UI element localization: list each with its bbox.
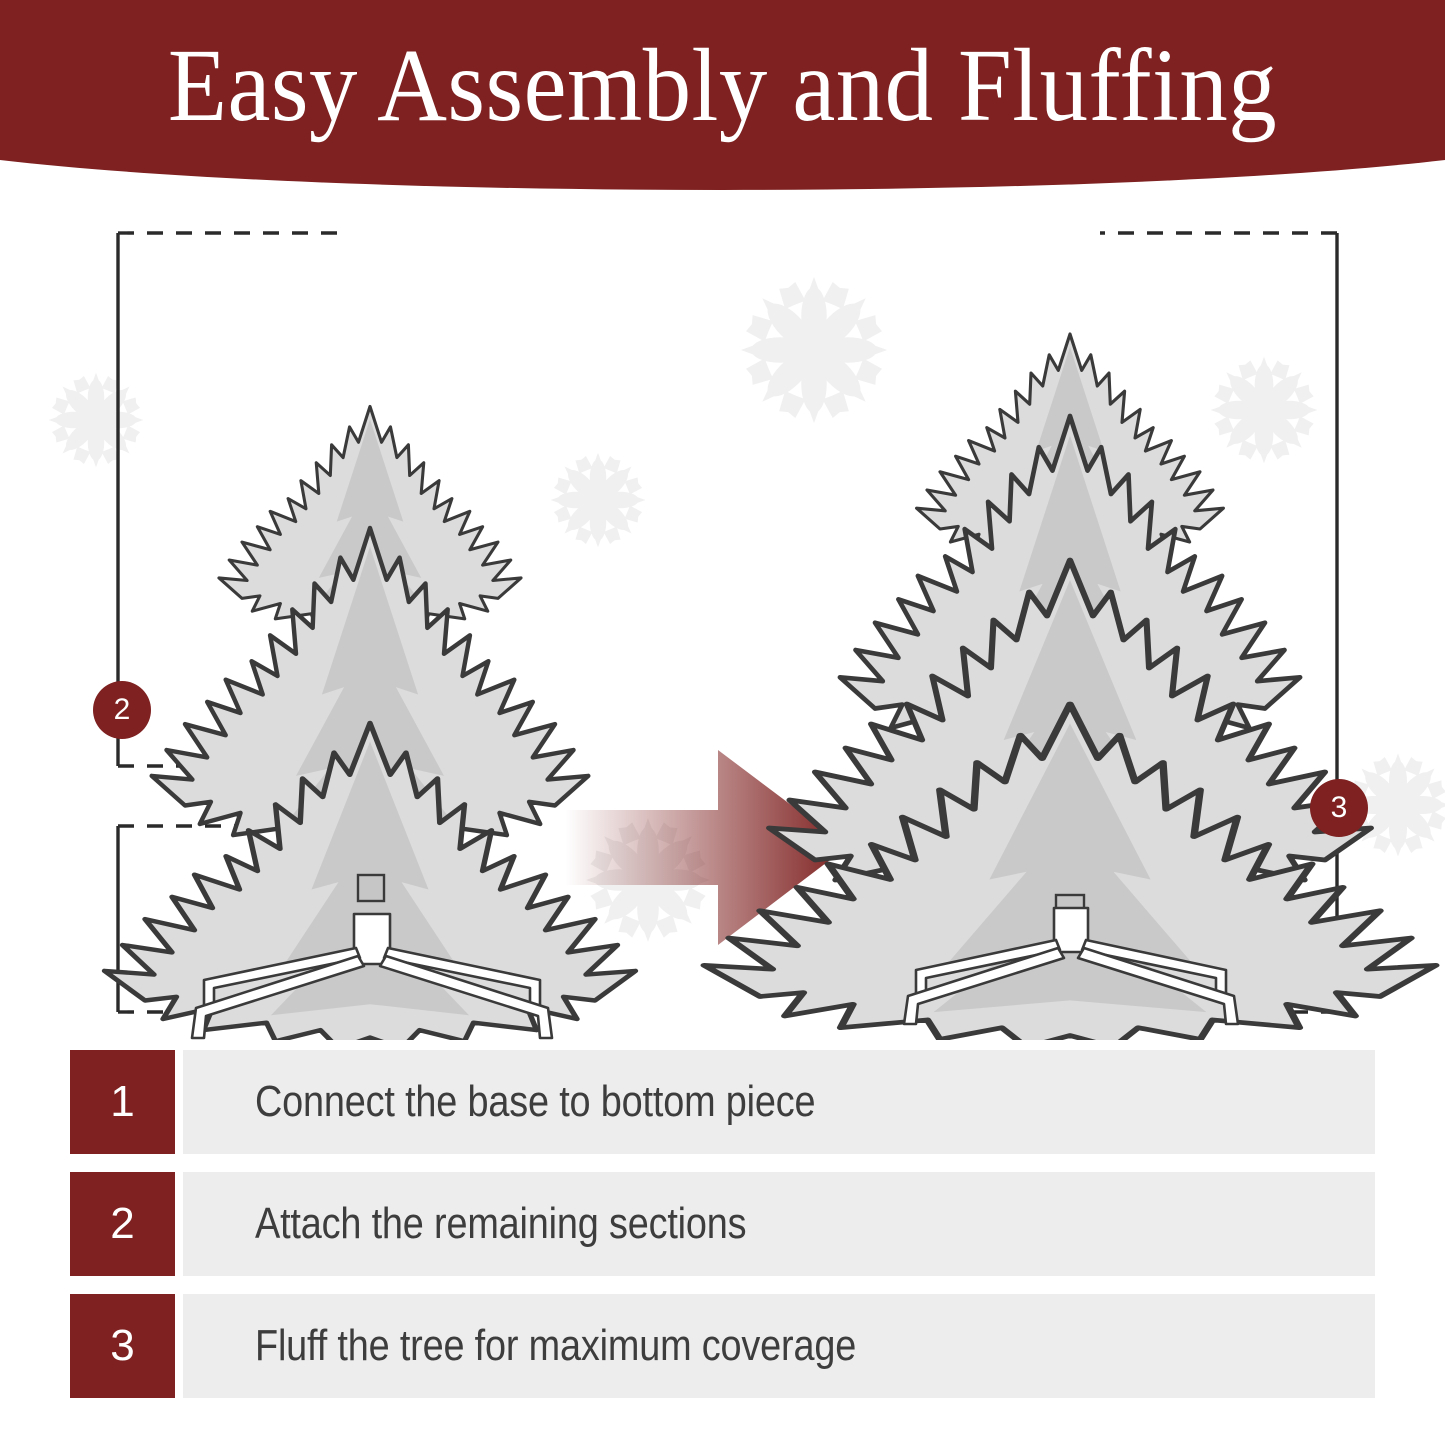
assembled-tree <box>704 334 1436 1040</box>
step-number-3: 3 <box>70 1294 175 1398</box>
step-text-container-3: Fluff the tree for maximum coverage <box>183 1294 1375 1398</box>
steps-list: 1 Connect the base to bottom piece 2 Att… <box>70 1050 1375 1416</box>
step-row-2: 2 Attach the remaining sections <box>70 1172 1375 1276</box>
section-connector-pole <box>358 875 384 901</box>
infographic-page: Easy Assembly and Fluffing <box>0 0 1445 1445</box>
illustration-svg <box>0 190 1445 1040</box>
step-label-1: Connect the base to bottom piece <box>255 1077 815 1127</box>
callout-badge-2[interactable]: 2 <box>93 681 151 739</box>
step-row-3: 3 Fluff the tree for maximum coverage <box>70 1294 1375 1398</box>
assembly-illustration: 1 2 3 <box>0 190 1445 1040</box>
snowflake-icon <box>1211 357 1318 464</box>
page-title: Easy Assembly and Fluffing <box>51 26 1395 146</box>
step-number-1: 1 <box>70 1050 175 1154</box>
callout-badge-3[interactable]: 3 <box>1310 779 1368 837</box>
step-text-container-1: Connect the base to bottom piece <box>183 1050 1375 1154</box>
header-banner: Easy Assembly and Fluffing <box>0 0 1445 200</box>
step-label-3: Fluff the tree for maximum coverage <box>255 1321 856 1371</box>
step-text-container-2: Attach the remaining sections <box>183 1172 1375 1276</box>
snowflake-icon <box>551 453 646 548</box>
step-number-2: 2 <box>70 1172 175 1276</box>
snowflake-icon <box>741 277 887 423</box>
step-row-1: 1 Connect the base to bottom piece <box>70 1050 1375 1154</box>
step-label-2: Attach the remaining sections <box>255 1199 746 1249</box>
snowflake-icon <box>49 373 144 468</box>
